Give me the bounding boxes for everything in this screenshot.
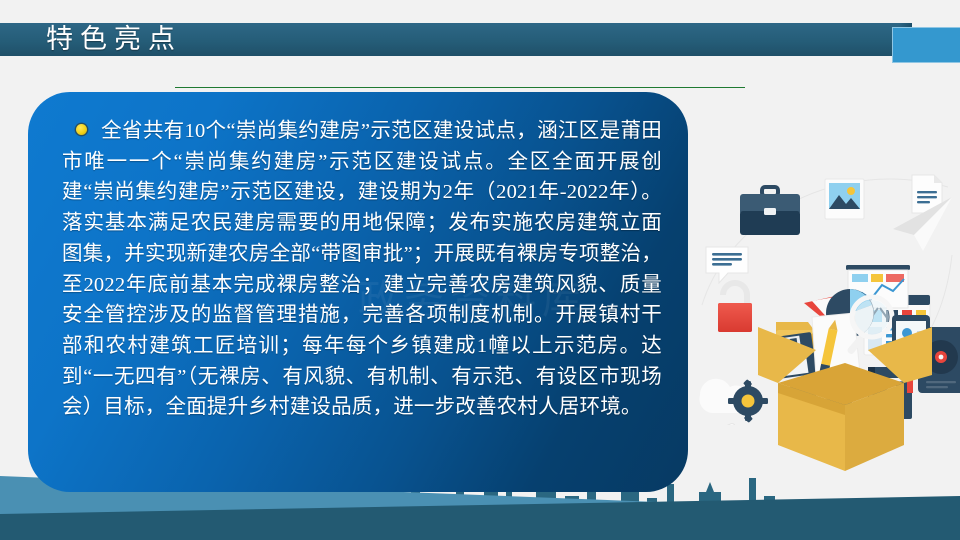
bullet-point-icon (76, 124, 87, 135)
briefcase-icon (740, 187, 800, 235)
panel-body-paragraph: 全省共有10个“崇尚集约建房”示范区建设试点，涵江区是莆田市唯一一个“崇尚集约建… (62, 120, 662, 418)
green-divider-rule (175, 87, 745, 88)
page-title: 特色亮点 (46, 21, 182, 57)
content-panel: 政务资料库 全省共有10个“崇尚集约建房”示范区建设试点，涵江区是莆田市唯一一个… (28, 92, 688, 492)
photo-icon (825, 179, 864, 219)
slide-canvas: 特色亮点 特色亮点 (0, 0, 960, 540)
header-accent-block (892, 27, 960, 63)
panel-body-text: 全省共有10个“崇尚集约建房”示范区建设试点，涵江区是莆田市唯一一个“崇尚集约建… (62, 116, 662, 423)
